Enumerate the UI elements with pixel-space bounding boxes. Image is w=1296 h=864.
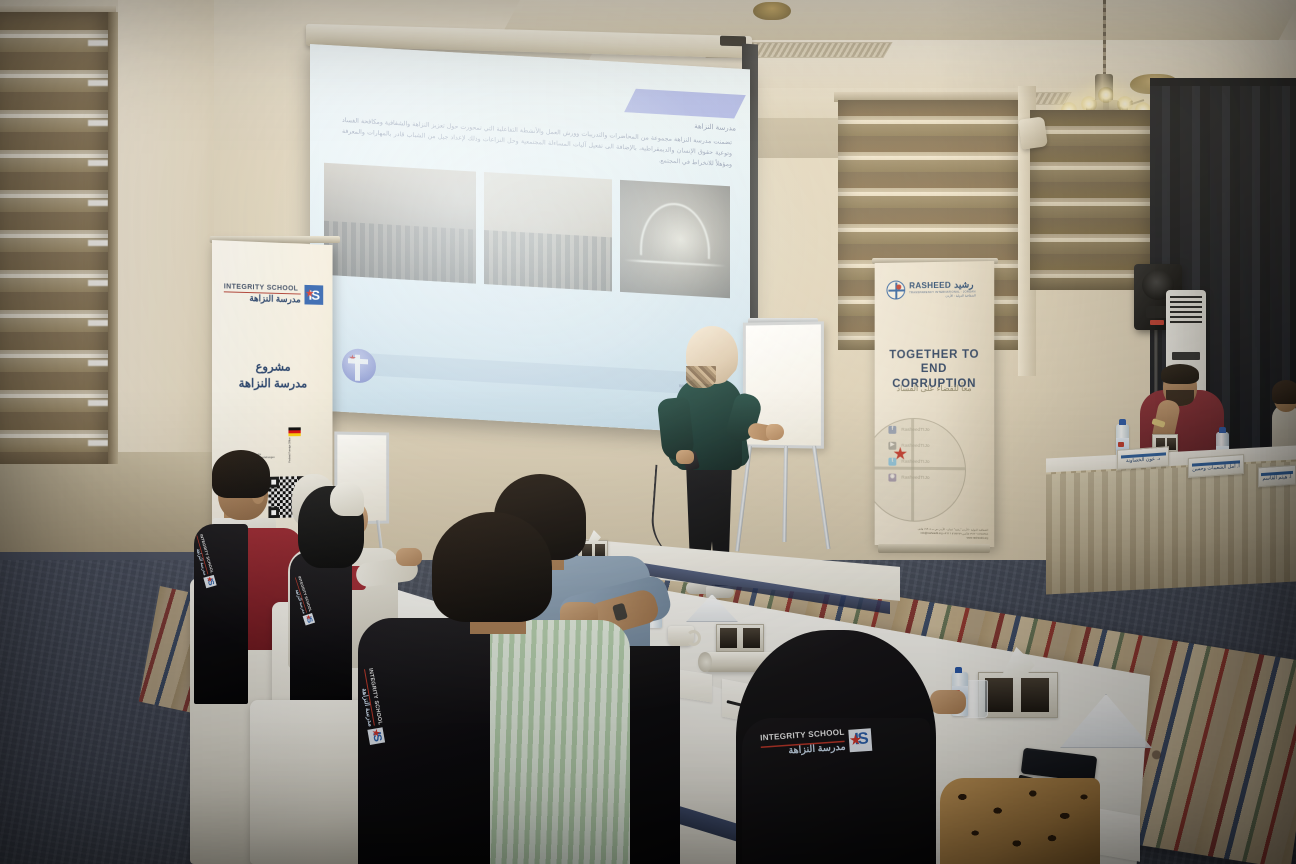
participant-e-hand — [930, 690, 966, 714]
participant-e-sleeve — [940, 778, 1100, 864]
is-logo-mark: IS — [305, 285, 324, 305]
banner-right-slogan-ar: معاً للقضاء على الفساد — [881, 384, 989, 393]
banner-left-logo-ar: مدرسة النزاهة — [224, 293, 301, 304]
star-icon — [893, 447, 907, 461]
slogan-line-1: TOGETHER TO END — [881, 348, 989, 377]
ceiling-light-dome — [753, 2, 791, 20]
german-flag-icon — [288, 427, 300, 436]
slide-photo-strip — [324, 163, 732, 299]
chandelier-bulb — [1098, 87, 1114, 103]
projection-screen: مدرسة النزاهة تضمنت مدرسة النزاهة مجموعة… — [310, 44, 750, 435]
head-table-woman-hair — [1272, 380, 1296, 404]
banner-rasheed: RASHEED رشيد TRANSPARENCY INTERNATIONAL … — [875, 261, 995, 547]
name-placard: د. عون الخصاونة — [1117, 446, 1169, 470]
federal-foreign-office-logo: Federal Foreign Office — [288, 427, 300, 462]
slide-footer-bar — [362, 353, 728, 396]
blind-edge — [108, 12, 118, 464]
is-logo-mark: IS — [849, 728, 873, 752]
tissue-box — [716, 624, 764, 652]
presenter-hand-right — [766, 424, 784, 440]
slide-body-text: تضمنت مدرسة النزاهة مجموعة من المحاضرات … — [342, 116, 732, 171]
photo-people-row — [324, 221, 476, 284]
tissue-box-art — [985, 678, 1013, 712]
qr-corner — [268, 477, 279, 488]
banner-left-logo-en: INTEGRITY SCHOOL — [224, 282, 301, 291]
placard-name: أ. هيثم القاسم — [1262, 473, 1291, 481]
photo-people-row — [484, 230, 612, 291]
chandelier-chain — [1103, 0, 1106, 76]
speaker-brand-logo — [1150, 320, 1164, 325]
banner-left-headline-line2: مدرسة النزاهة — [212, 375, 332, 393]
coffee-mug — [668, 626, 694, 646]
slide-accent-shape — [624, 89, 746, 119]
light-painting-arc — [640, 201, 710, 259]
tissue-box-art — [720, 628, 737, 648]
participant-a-hair — [212, 450, 270, 498]
blind-light-glow — [88, 20, 108, 460]
is-logo-letters: IS — [849, 728, 873, 752]
placard-name: د. عون الخصاونة — [1126, 455, 1160, 463]
name-placard: أ. أمل الشعيبات وحسن — [1188, 454, 1244, 478]
rasheed-logo: RASHEED رشيد TRANSPARENCY INTERNATIONAL … — [886, 279, 982, 299]
wall-speaker-icon — [1018, 116, 1048, 149]
ac-display-panel[interactable] — [1172, 352, 1200, 360]
is-logo-mark: IS — [367, 728, 385, 746]
banner-left-headline: مشروع مدرسة النزاهة — [212, 358, 332, 393]
slide-photo-group-indoor — [324, 163, 476, 284]
rasheed-globe-icon — [886, 280, 905, 299]
slide-photo-lightpainting — [620, 180, 730, 298]
presenter-hand-left — [676, 450, 694, 464]
tissue-box-art — [743, 628, 760, 648]
banner-left-logo-text: INTEGRITY SCHOOL مدرسة النزاهة — [224, 282, 301, 304]
conference-room-photo: مدرسة النزاهة تضمنت مدرسة النزاهة مجموعة… — [0, 0, 1296, 864]
ffo-logo-sub: Federal Foreign Office — [288, 437, 291, 463]
participant-b-hijab-underscarf — [330, 482, 364, 516]
window-blind-right-2[interactable] — [1030, 110, 1150, 290]
tissue-box-art — [1021, 678, 1049, 712]
globe-dot — [896, 284, 900, 289]
name-placard: أ. هيثم القاسم — [1258, 465, 1296, 488]
slide-title: مدرسة النزاهة — [694, 122, 736, 132]
banner-left-logo: INTEGRITY SCHOOL مدرسة النزاهة IS — [224, 282, 323, 305]
wall-pillar — [118, 0, 214, 470]
is-logo-letters: IS — [305, 285, 324, 305]
ac-grill-icon — [1170, 296, 1202, 324]
qr-corner — [268, 507, 279, 518]
participant-c-hair — [432, 512, 552, 622]
slide-photo-desert — [484, 172, 612, 291]
head-table-man-hair — [1161, 364, 1199, 384]
light-painting-line — [624, 259, 725, 267]
rasheed-logo-text: RASHEED رشيد TRANSPARENCY INTERNATIONAL … — [909, 280, 975, 299]
banner-right-base — [878, 544, 990, 553]
star-icon — [349, 354, 356, 361]
rasheed-watermark-globe — [875, 418, 966, 523]
presenter-hijab-pattern — [686, 366, 716, 388]
banner-right-footer: الشفافية الدولية - الأردن "رشيد" عمان - … — [912, 528, 988, 541]
rasheed-sub-ar: الشفافية الدولية - الأردن — [909, 294, 975, 299]
banner-left-headline-line1: مشروع — [212, 358, 332, 376]
rasheed-name-ar: رشيد — [954, 280, 973, 289]
participant-b-hand — [396, 548, 422, 566]
tissue-box — [978, 672, 1058, 718]
